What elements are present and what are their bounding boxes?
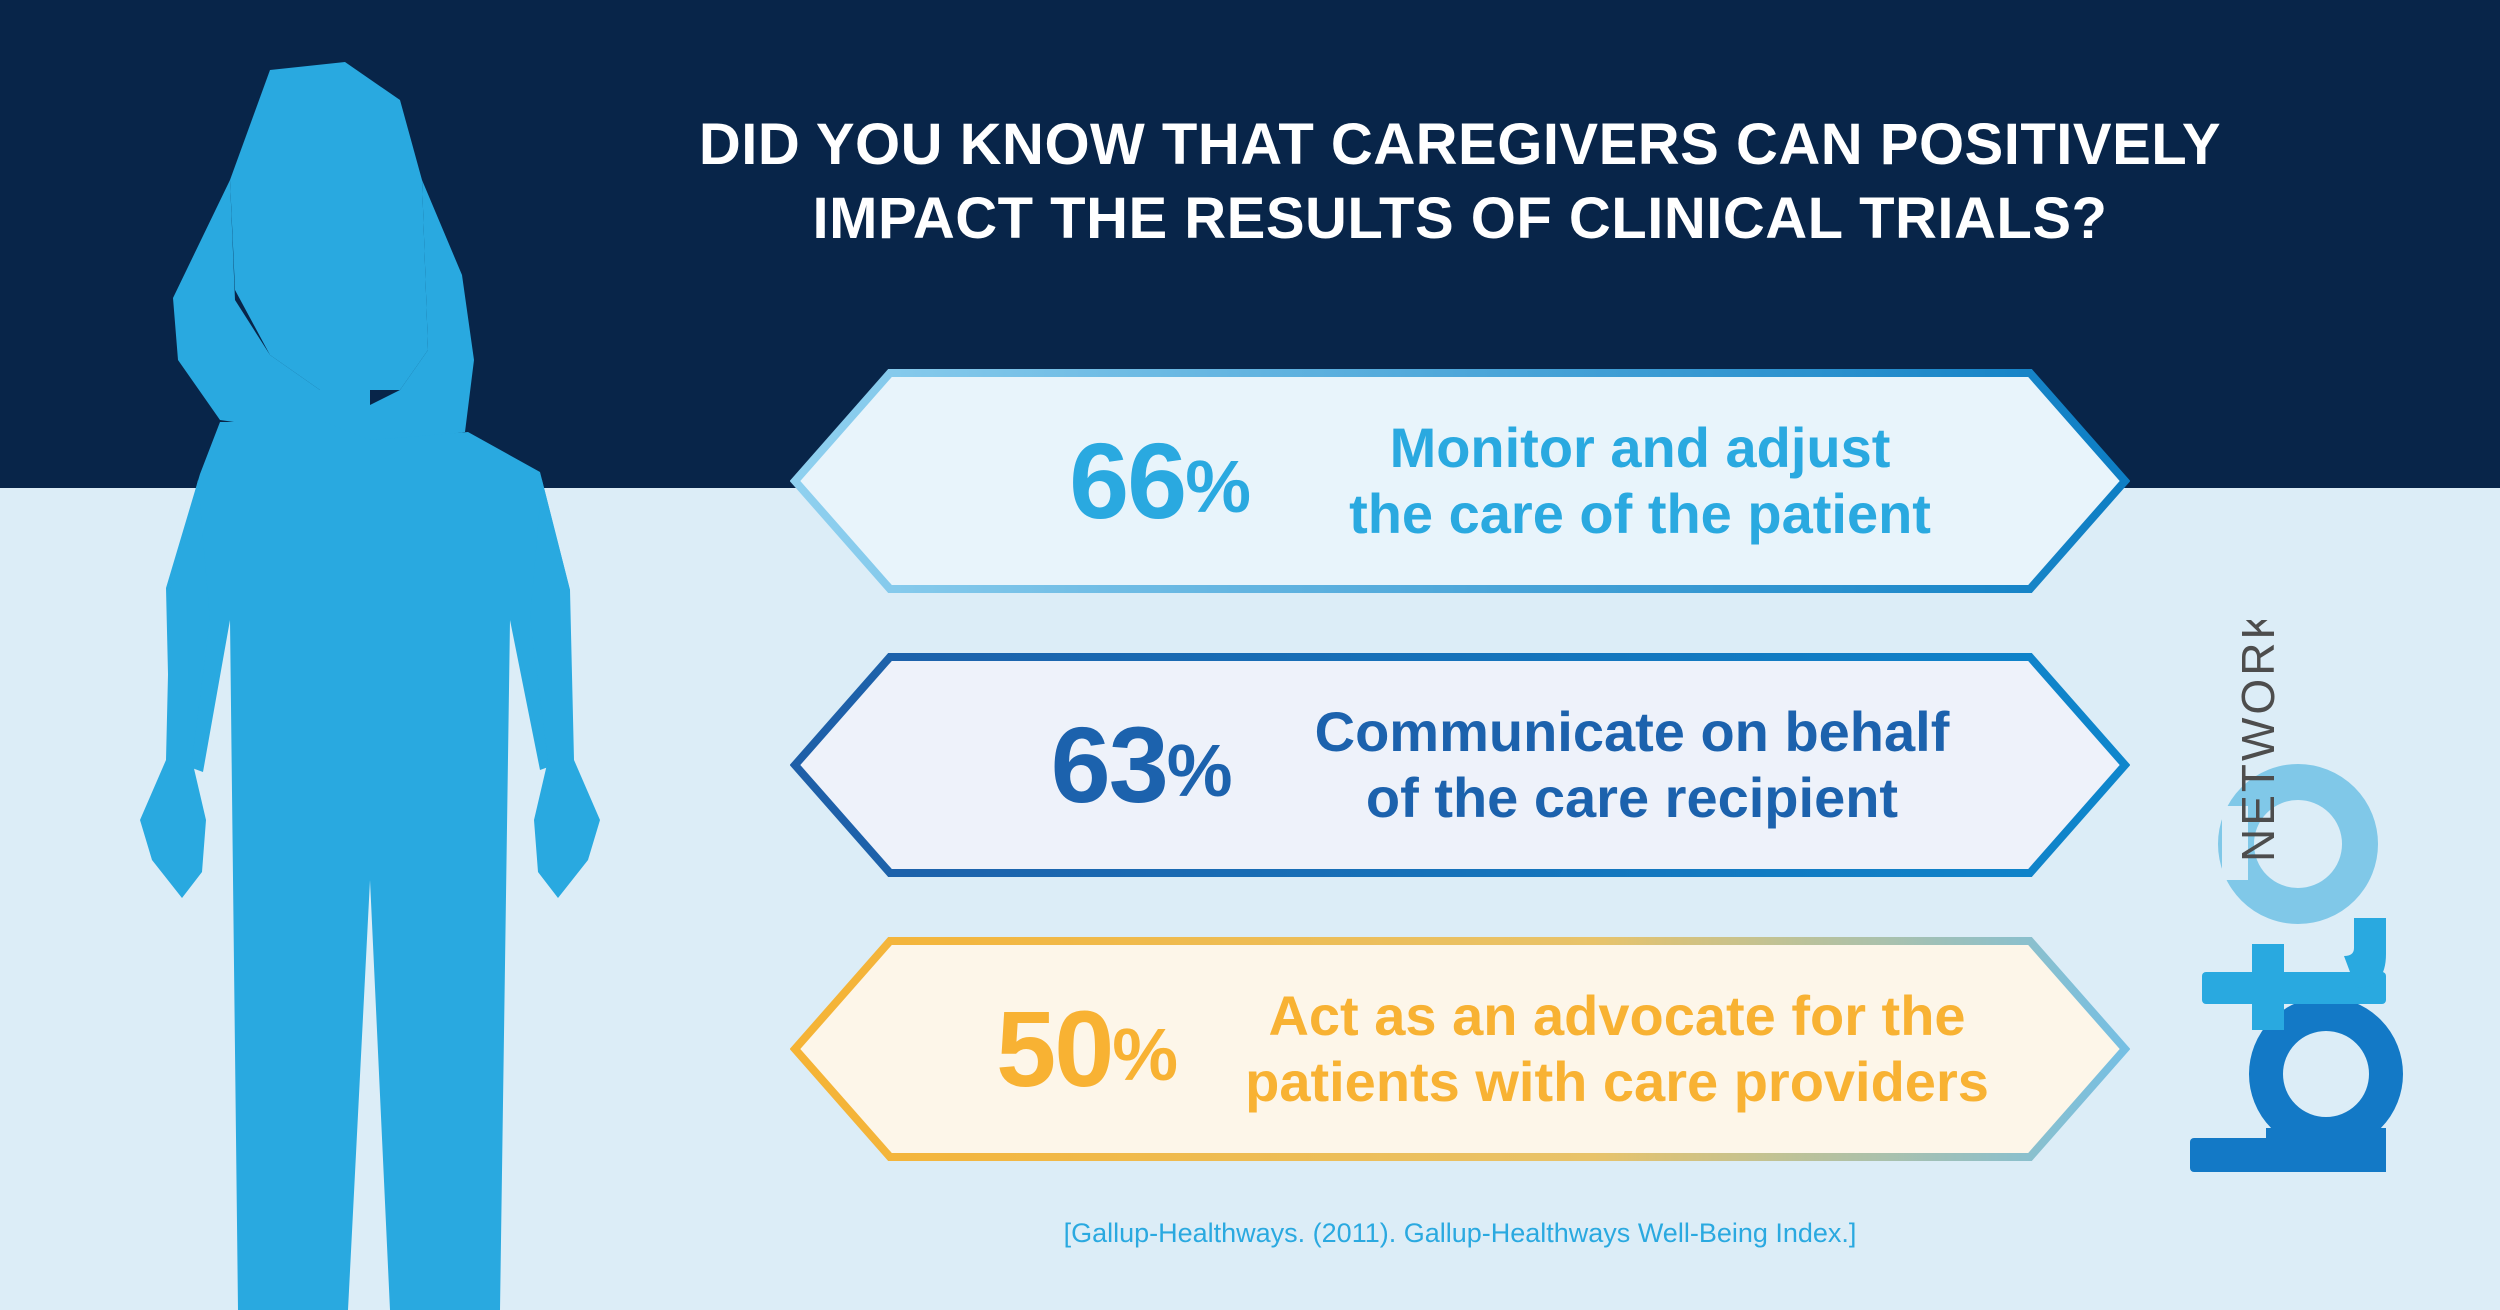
stat-1-desc-line-2: the care of the patient	[1349, 481, 1931, 547]
stat-2-desc-line-2: of the care recipient	[1315, 765, 1950, 831]
stat-3-desc-line-1: Act as an advocate for the	[1245, 983, 1989, 1049]
percent-sign: %	[1112, 1013, 1176, 1096]
page-title: DID YOU KNOW THAT CAREGIVERS CAN POSITIV…	[560, 108, 2360, 256]
stat-banner-communicate-on-behalf[interactable]: 63% Communicate on behalf of the care re…	[790, 652, 2130, 878]
stat-banner-monitor-and-adjust[interactable]: 66% Monitor and adjust the care of the p…	[790, 368, 2130, 594]
btc-network-logo[interactable]: NETWORK	[2170, 620, 2500, 1180]
source-citation: [Gallup-Healthways. (2011). Gallup-Healt…	[790, 1218, 2130, 1249]
infographic-canvas: DID YOU KNOW THAT CAREGIVERS CAN POSITIV…	[0, 0, 2500, 1310]
stat-3-description: Act as an advocate for the patients with…	[1245, 983, 1989, 1115]
stat-1-desc-line-1: Monitor and adjust	[1349, 415, 1931, 481]
percent-sign: %	[1167, 729, 1231, 812]
stat-2-description: Communicate on behalf of the care recipi…	[1315, 699, 1950, 831]
stat-1-description: Monitor and adjust the care of the patie…	[1349, 415, 1931, 547]
stat-2-desc-line-1: Communicate on behalf	[1315, 699, 1950, 765]
logo-tagline: NETWORK	[2232, 620, 2284, 862]
stat-2-percent-value: 63%	[991, 711, 1291, 819]
logo-letter-b	[2190, 1014, 2386, 1172]
percent-sign: %	[1185, 445, 1249, 528]
silhouette-left-arm	[140, 480, 210, 898]
headline-line-2: IMPACT THE RESULTS OF CLINICAL TRIALS?	[560, 182, 2360, 256]
silhouette-torso	[166, 422, 570, 1310]
silhouette-right-arm	[530, 480, 600, 898]
stat-3-percent-value: 50%	[941, 995, 1231, 1103]
stat-1-percent-value: 66%	[1009, 427, 1309, 535]
stat-banner-act-as-advocate[interactable]: 50% Act as an advocate for the patients …	[790, 936, 2130, 1162]
headline-line-1: DID YOU KNOW THAT CAREGIVERS CAN POSITIV…	[560, 108, 2360, 182]
stat-3-desc-line-2: patients with care providers	[1245, 1049, 1989, 1115]
